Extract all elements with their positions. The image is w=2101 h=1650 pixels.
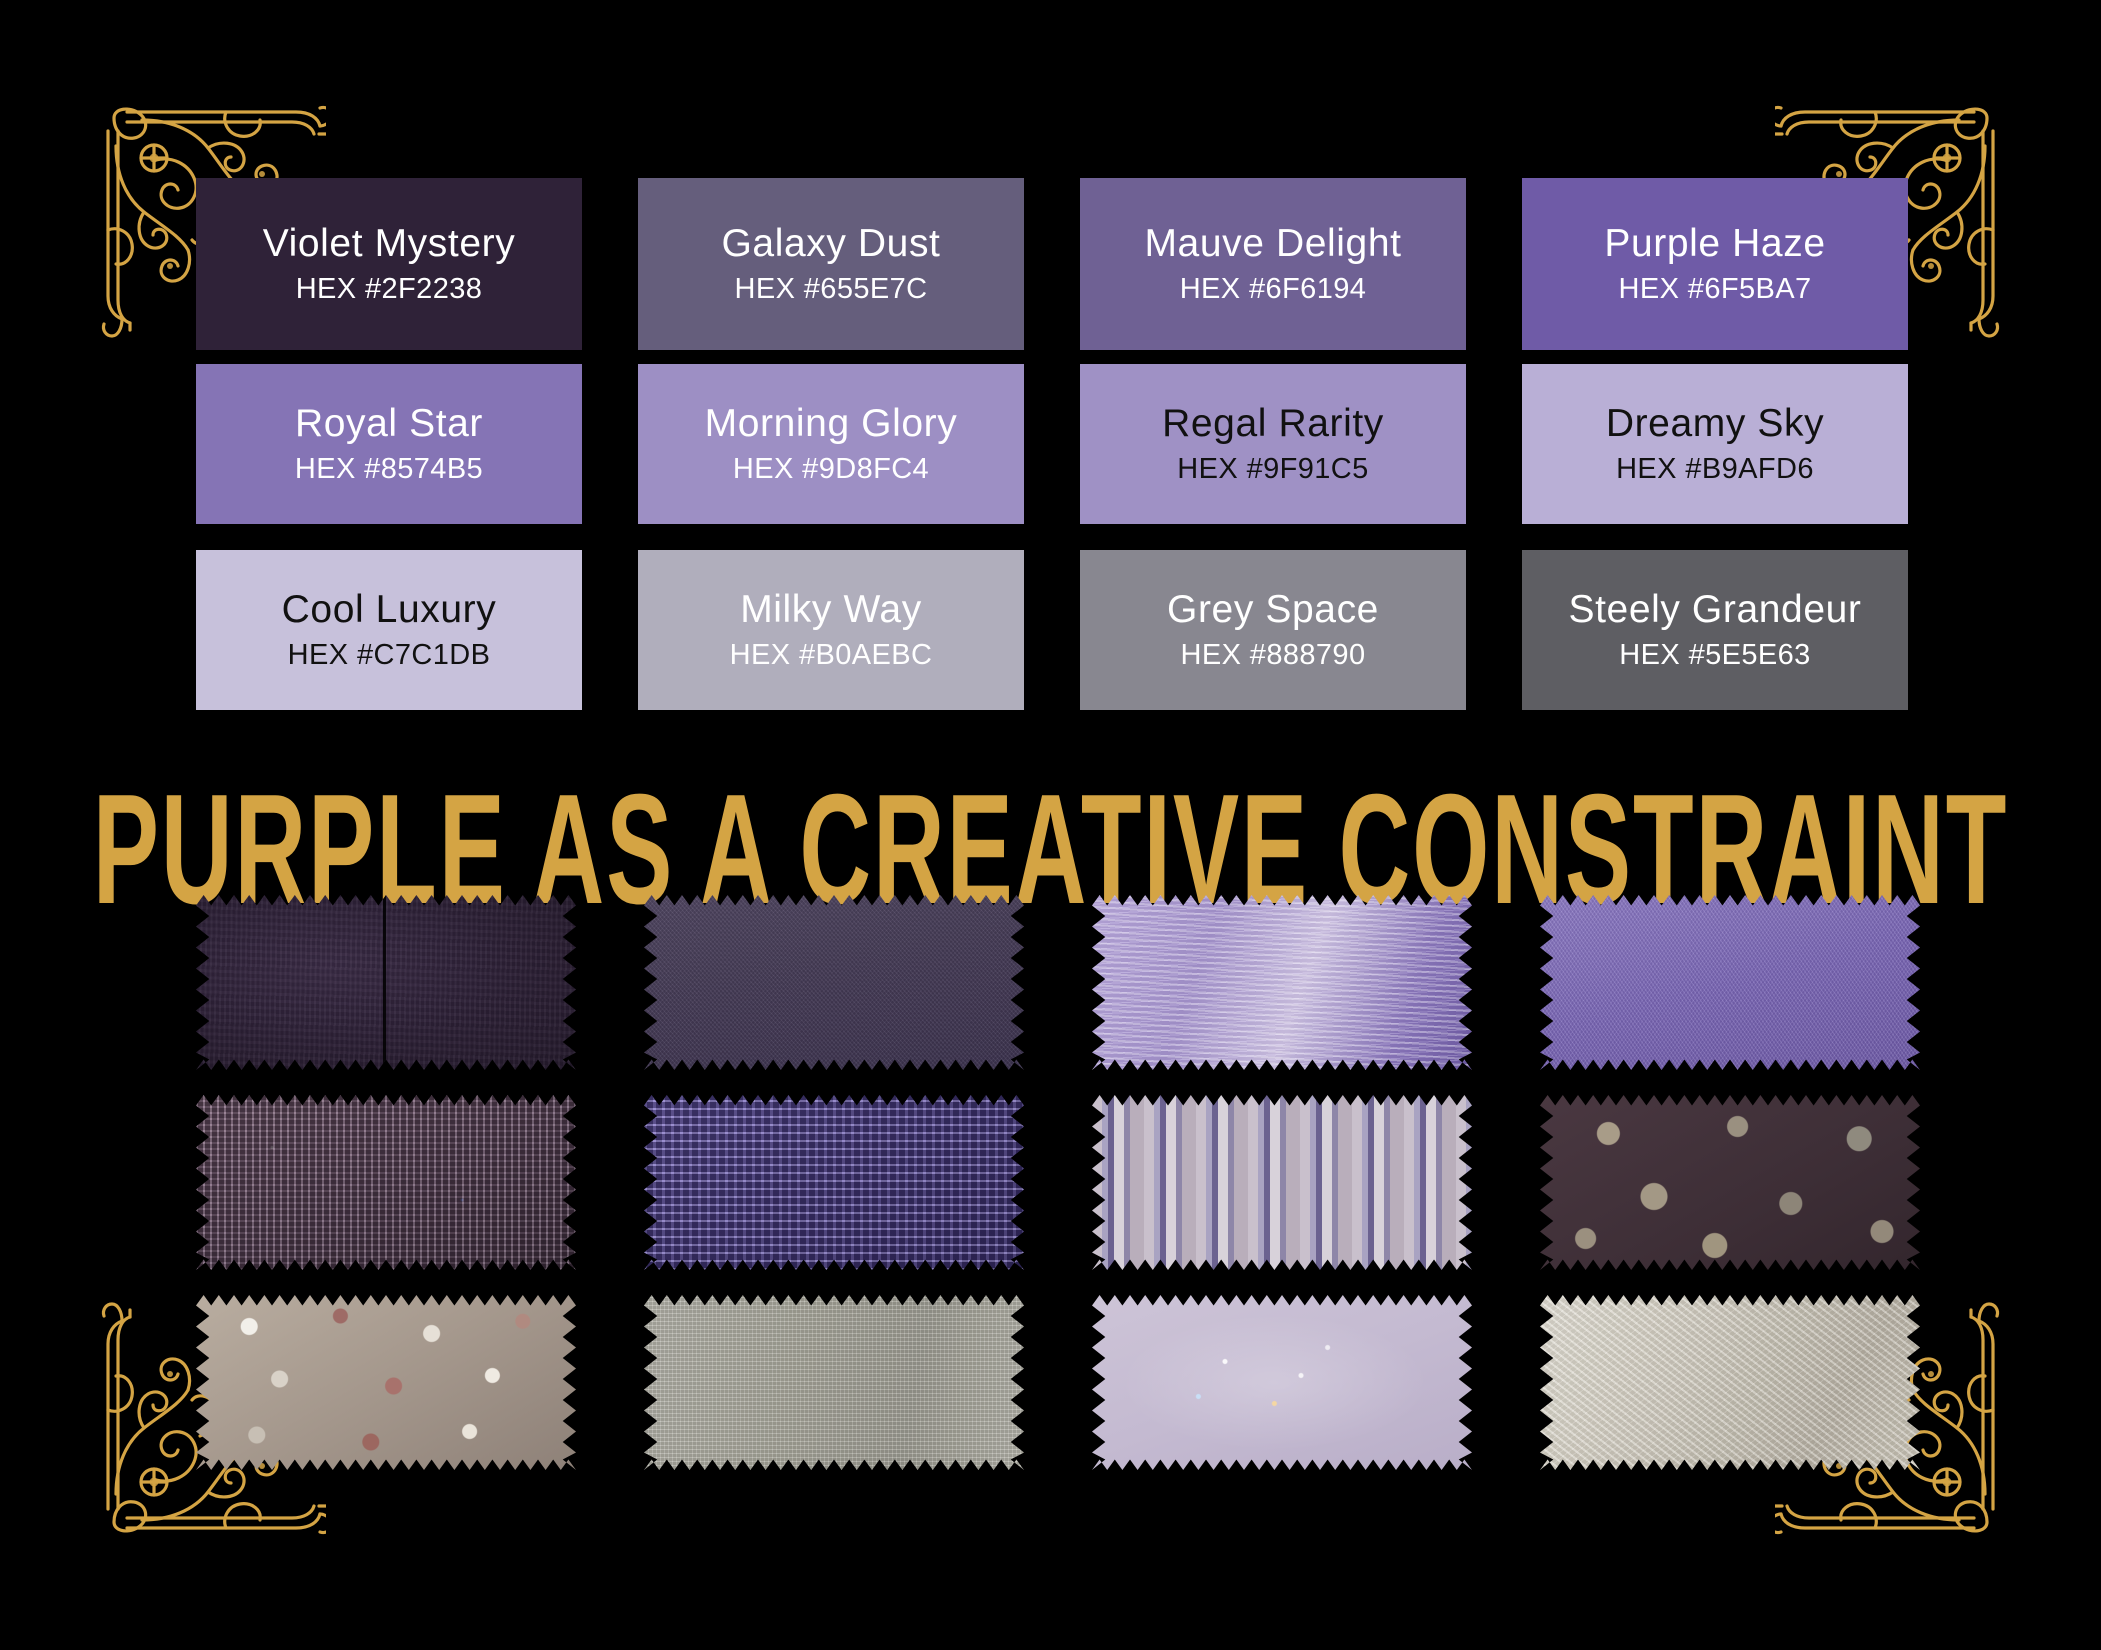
color-swatch-hex: HEX #9D8FC4	[733, 453, 929, 485]
color-swatch[interactable]: Milky Way HEX #B0AEBC	[638, 550, 1024, 710]
fabric-swatch-grey-mesh-tulle[interactable]	[644, 1295, 1024, 1470]
color-swatch-name: Grey Space	[1167, 588, 1379, 632]
color-swatch-name: Royal Star	[295, 402, 483, 446]
color-swatch[interactable]: Grey Space HEX #888790	[1080, 550, 1466, 710]
color-swatch-hex: HEX #888790	[1181, 639, 1366, 671]
color-swatch-name: Regal Rarity	[1162, 402, 1384, 446]
color-swatch-hex: HEX #2F2238	[296, 273, 483, 305]
color-swatch[interactable]: Regal Rarity HEX #9F91C5	[1080, 364, 1466, 524]
fabric-swatch-dark-aubergine-velvet[interactable]	[196, 895, 576, 1070]
color-swatch-name: Cool Luxury	[282, 588, 497, 632]
fabric-swatch-grid	[196, 895, 1916, 1490]
color-swatch[interactable]: Morning Glory HEX #9D8FC4	[638, 364, 1024, 524]
color-swatch[interactable]: Purple Haze HEX #6F5BA7	[1522, 178, 1908, 350]
color-swatch-hex: HEX #9F91C5	[1177, 453, 1368, 485]
fabric-swatch-plum-dotted-jacquard[interactable]	[1540, 1095, 1920, 1270]
color-palette-grid: Violet Mystery HEX #2F2238 Galaxy Dust H…	[196, 178, 1908, 722]
color-swatch[interactable]: Royal Star HEX #8574B5	[196, 364, 582, 524]
fabric-swatch-striped-pleated-taffeta[interactable]	[1092, 1095, 1472, 1270]
color-swatch-hex: HEX #8574B5	[295, 453, 483, 485]
color-swatch-hex: HEX #6F5BA7	[1619, 273, 1812, 305]
color-swatch[interactable]: Violet Mystery HEX #2F2238	[196, 178, 582, 350]
color-swatch-name: Purple Haze	[1604, 222, 1825, 266]
color-swatch-name: Mauve Delight	[1144, 222, 1401, 266]
color-swatch-hex: HEX #5E5E63	[1619, 639, 1810, 671]
fabric-swatch-violet-woven-twill[interactable]	[1540, 895, 1920, 1070]
color-swatch-hex: HEX #655E7C	[734, 273, 927, 305]
color-swatch[interactable]: Mauve Delight HEX #6F6194	[1080, 178, 1466, 350]
fabric-swatch-champagne-satin-weave[interactable]	[1540, 1295, 1920, 1470]
fabric-swatch-silver-paillette-sequin[interactable]	[196, 1295, 576, 1470]
mood-board: Violet Mystery HEX #2F2238 Galaxy Dust H…	[0, 0, 2101, 1650]
color-swatch-name: Violet Mystery	[263, 222, 516, 266]
fabric-swatch-lilac-glitter-organza[interactable]	[1092, 1295, 1472, 1470]
color-swatch-hex: HEX #6F6194	[1180, 273, 1367, 305]
color-swatch-hex: HEX #B0AEBC	[730, 639, 933, 671]
fabric-swatch-mauve-sequin-knit[interactable]	[196, 1095, 576, 1270]
fabric-swatch-violet-beaded-fringe[interactable]	[644, 1095, 1024, 1270]
color-swatch[interactable]: Steely Grandeur HEX #5E5E63	[1522, 550, 1908, 710]
color-swatch-name: Galaxy Dust	[721, 222, 940, 266]
color-swatch[interactable]: Galaxy Dust HEX #655E7C	[638, 178, 1024, 350]
color-swatch[interactable]: Cool Luxury HEX #C7C1DB	[196, 550, 582, 710]
color-swatch[interactable]: Dreamy Sky HEX #B9AFD6	[1522, 364, 1908, 524]
color-swatch-name: Steely Grandeur	[1569, 588, 1862, 632]
color-swatch-name: Dreamy Sky	[1606, 402, 1824, 446]
fabric-swatch-lilac-shimmer-satin[interactable]	[1092, 895, 1472, 1070]
color-swatch-hex: HEX #B9AFD6	[1616, 453, 1814, 485]
color-swatch-name: Morning Glory	[705, 402, 958, 446]
fabric-swatch-deep-violet-denim[interactable]	[644, 895, 1024, 1070]
color-swatch-hex: HEX #C7C1DB	[288, 639, 491, 671]
color-swatch-name: Milky Way	[740, 588, 922, 632]
